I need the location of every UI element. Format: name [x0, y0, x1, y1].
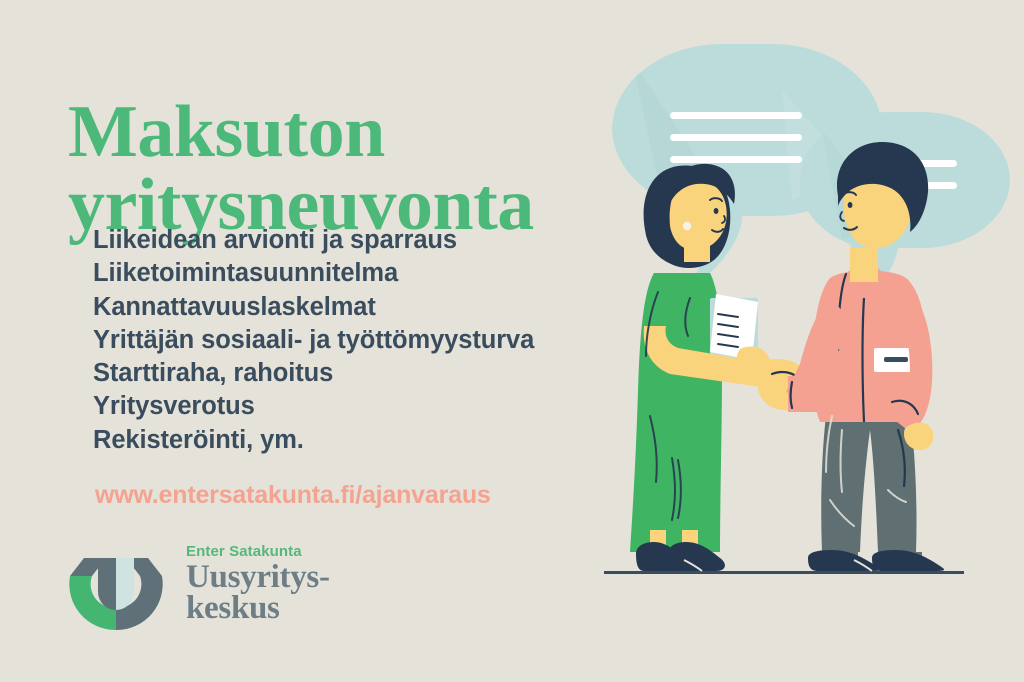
service-list: Liikeidean arvionti ja sparraus Liiketoi… [93, 224, 633, 457]
list-item: Liiketoimintasuunnitelma [93, 257, 633, 290]
list-item: Starttiraha, rahoitus [93, 357, 633, 390]
list-item: Yrittäjän sosiaali- ja työttömyysturva [93, 324, 633, 357]
uusyrityskeskus-u-mark-icon [62, 542, 170, 638]
logo[interactable]: Enter Satakunta Uusyritys- keskus [62, 542, 362, 642]
woman-figure [630, 164, 811, 571]
page-title: Maksuton yritysneuvonta [68, 96, 628, 243]
logo-text: Enter Satakunta Uusyritys- keskus [186, 544, 386, 624]
list-item: Rekisteröinti, ym. [93, 424, 633, 457]
poster-canvas: Maksuton yritysneuvonta Liikeidean arvio… [0, 0, 1024, 682]
list-item: Yritysverotus [93, 390, 633, 423]
list-item: Liikeidean arvionti ja sparraus [93, 224, 633, 257]
logo-wordmark: Uusyritys- keskus [186, 562, 386, 624]
ground-line [604, 571, 964, 574]
list-item: Kannattavuuslaskelmat [93, 291, 633, 324]
handshake-business-advice-illustration [592, 30, 1012, 600]
booking-url-link[interactable]: www.entersatakunta.fi/ajanvaraus [95, 481, 491, 510]
